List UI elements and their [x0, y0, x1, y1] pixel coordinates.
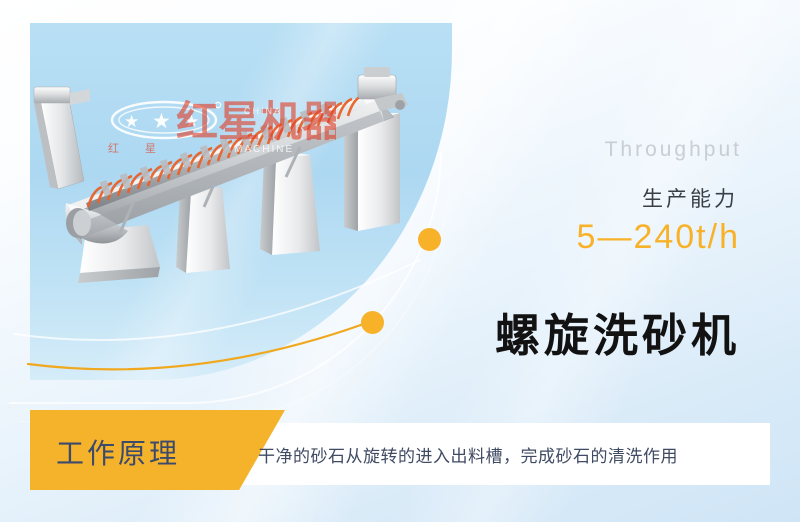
discharge-chute [34, 87, 90, 189]
spiral-screw [86, 96, 367, 211]
orange-dot-icon-lower [361, 311, 384, 334]
working-principle-label: 工作原理 [56, 432, 180, 472]
promo-banner-canvas: ★★★ 红星 红星机器 CHINA MACHINE Throughput 生产能… [0, 0, 800, 522]
orange-dot-icon-upper [418, 228, 441, 251]
capacity-value: 5—240t/h [577, 218, 740, 257]
orange-curve-icon [0, 200, 470, 400]
throughput-label-cn: 生产能力 [642, 183, 738, 213]
working-principle-description: 干净的砂石从旋转的进入出料槽，完成砂石的清洗作用 [258, 442, 678, 467]
page-title: 螺旋洗砂机 [495, 299, 740, 364]
throughput-label-en: Throughput [605, 138, 742, 162]
